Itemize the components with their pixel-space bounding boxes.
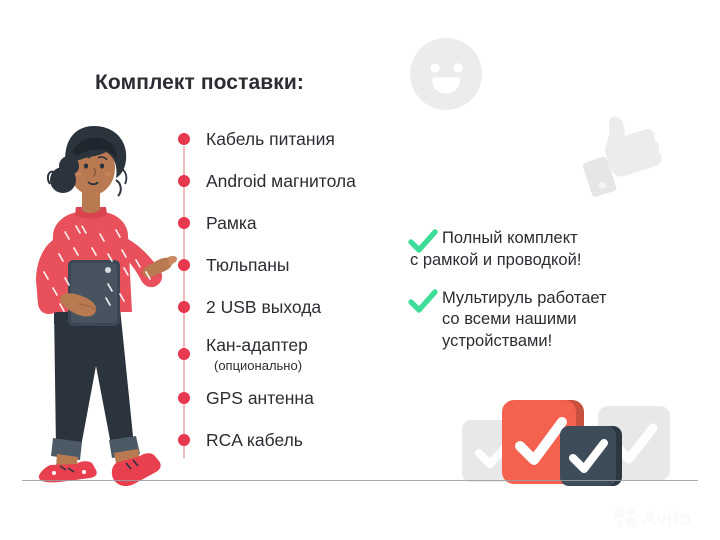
list-item-label: GPS антенна (206, 388, 314, 408)
bullet-dot-icon (178, 348, 190, 360)
list-item[interactable]: RCA кабель (178, 431, 408, 451)
list-item-label: Android магнитола (206, 171, 356, 191)
list-item-label: RCA кабель (206, 430, 303, 450)
benefit-item: Мультируль работает со всеми нашими устр… (408, 288, 704, 353)
thumbs-up-icon (578, 112, 672, 204)
list-item-label: Тюльпаны (206, 255, 289, 275)
list-item-label: Кан-адаптер (206, 335, 308, 355)
benefit-line-2: со всеми нашими (442, 309, 607, 331)
list-item-label: Кабель питания (206, 129, 335, 149)
check-card-dark (560, 426, 622, 486)
page-title: Комплект поставки: (95, 71, 304, 95)
bullet-dot-icon (178, 259, 190, 271)
avito-watermark: Avito (612, 504, 708, 530)
ground-line (22, 480, 698, 481)
list-item[interactable]: GPS антенна (178, 389, 408, 409)
list-item[interactable]: Android магнитола (178, 172, 408, 192)
package-contents-list: Кабель питания Android магнитола Рамка Т… (178, 130, 408, 451)
smiley-face-icon (408, 36, 484, 112)
bullet-dot-icon (178, 434, 190, 446)
bullet-dot-icon (178, 175, 190, 187)
list-item-label: 2 USB выхода (206, 297, 321, 317)
list-item[interactable]: Кан-адаптер (опционально) (178, 336, 408, 373)
list-item[interactable]: Кабель питания (178, 130, 408, 150)
list-item-sublabel: (опционально) (214, 359, 308, 373)
list-item-label: Рамка (206, 213, 257, 233)
bullet-dot-icon (178, 392, 190, 404)
promo-image-canvas: Кабель питания Android магнитола Рамка Т… (0, 0, 720, 540)
avito-watermark-text: Avito (642, 508, 691, 530)
woman-with-tablet-illustration (8, 108, 178, 488)
check-cards-group (462, 400, 672, 492)
benefit-line-2: с рамкой и проводкой! (410, 250, 581, 272)
benefit-line-3: устройствами! (442, 331, 607, 353)
bullet-dot-icon (178, 217, 190, 229)
bullet-dot-icon (178, 301, 190, 313)
benefits-list: Полный комплект с рамкой и проводкой! Му… (408, 228, 704, 353)
list-item[interactable]: Рамка (178, 214, 408, 234)
benefit-line-1: Полный комплект (442, 228, 581, 250)
list-item[interactable]: 2 USB выхода (178, 298, 408, 318)
benefit-line-1: Мультируль работает (442, 288, 607, 310)
benefit-item: Полный комплект с рамкой и проводкой! (408, 228, 704, 272)
bullet-dot-icon (178, 133, 190, 145)
check-mark-icon (408, 289, 438, 315)
list-item[interactable]: Тюльпаны (178, 256, 408, 276)
